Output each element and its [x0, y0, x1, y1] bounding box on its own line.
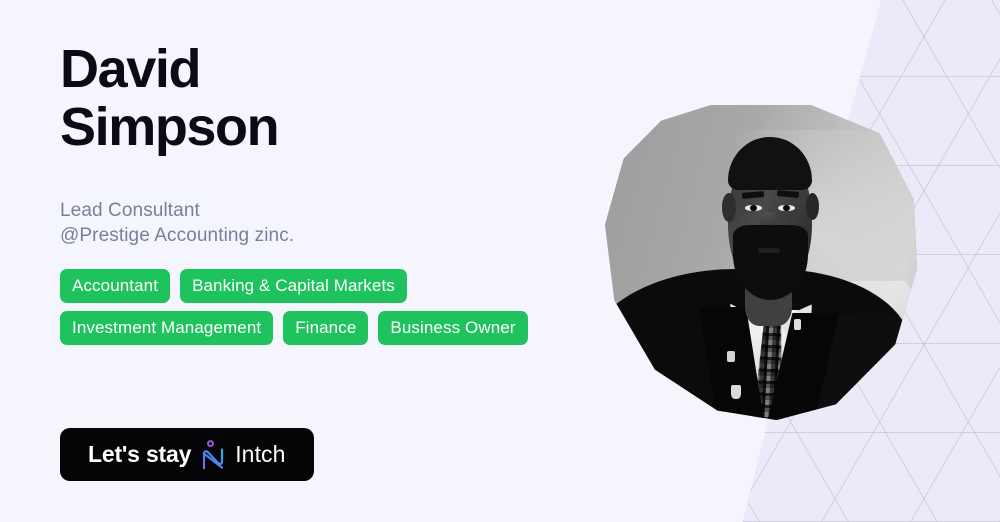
skill-tag[interactable]: Accountant [60, 269, 170, 303]
profile-details: David Simpson Lead Consultant @Prestige … [60, 0, 580, 522]
photo-pupil-left [750, 205, 757, 211]
photo-lapel-pin-3 [731, 385, 740, 398]
photo-mouth [758, 248, 780, 252]
skill-tag[interactable]: Business Owner [378, 311, 527, 345]
lets-stay-intch-button[interactable]: Let's stay Intch [60, 428, 314, 481]
photo-ear-left [722, 193, 736, 221]
skill-tag[interactable]: Finance [283, 311, 368, 345]
skill-tag-list: Accountant Banking & Capital Markets Inv… [60, 269, 530, 345]
page-title: David Simpson [60, 40, 278, 156]
photo-lapel-pin-2 [727, 351, 735, 362]
role-and-company: Lead Consultant @Prestige Accounting zin… [60, 198, 294, 248]
photo-lapel-pin-1 [794, 319, 801, 330]
cta-lead-label: Let's stay [88, 441, 191, 468]
skill-tag[interactable]: Investment Management [60, 311, 273, 345]
profile-card: David Simpson Lead Consultant @Prestige … [0, 0, 1000, 522]
skill-tag[interactable]: Banking & Capital Markets [180, 269, 407, 303]
intch-n-logo-icon [200, 440, 226, 470]
cta-brand-label: Intch [235, 441, 285, 468]
